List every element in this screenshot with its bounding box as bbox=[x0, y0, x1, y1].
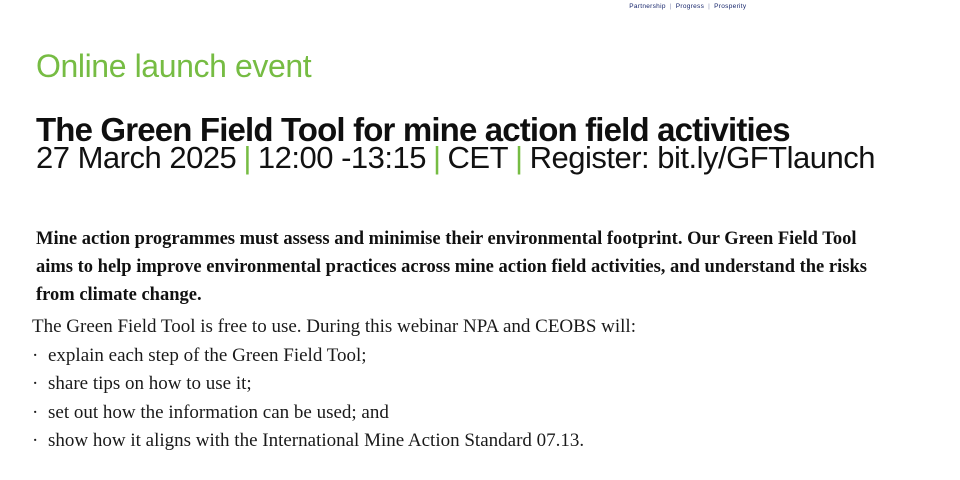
body-intro-paragraph: The Green Field Tool is free to use. Dur… bbox=[32, 313, 912, 342]
meta-separator-1: | bbox=[236, 138, 258, 178]
registration-link[interactable]: Register: bit.ly/GFTlaunch bbox=[530, 138, 875, 178]
webinar-agenda-list: ·explain each step of the Green Field To… bbox=[32, 342, 912, 456]
tagline-partnership: Partnership bbox=[629, 3, 666, 10]
bullet-dot-icon: · bbox=[32, 342, 38, 371]
tagline-progress: Progress bbox=[676, 3, 704, 10]
list-item: ·explain each step of the Green Field To… bbox=[32, 342, 912, 371]
event-date: 27 March 2025 bbox=[36, 138, 236, 178]
list-item: ·show how it aligns with the Internation… bbox=[32, 427, 912, 456]
norwegian-peoples-aid-logo: Peoples Aid bbox=[811, 0, 952, 2]
bullet-dot-icon: · bbox=[32, 427, 38, 456]
event-time: 12:00 -13:15 bbox=[258, 138, 426, 178]
meta-separator-3: | bbox=[508, 138, 530, 178]
list-item: ·share tips on how to use it; bbox=[32, 370, 912, 399]
lede-paragraph: Mine action programmes must assess and m… bbox=[36, 225, 886, 309]
list-item-label: share tips on how to use it; bbox=[48, 373, 252, 394]
bullet-dot-icon: · bbox=[32, 399, 38, 428]
event-eyebrow: Online launch event bbox=[36, 47, 311, 85]
list-item-label: show how it aligns with the Internationa… bbox=[48, 430, 584, 451]
list-item-label: explain each step of the Green Field Too… bbox=[48, 345, 367, 366]
partner-logo-strip: Development Partnership|Progress|Prosper… bbox=[0, 0, 960, 24]
uk-international-development-logo: Development Partnership|Progress|Prosper… bbox=[627, 0, 777, 10]
tagline-separator-1: | bbox=[670, 3, 672, 10]
npa-logo-wordmark: Peoples Aid bbox=[844, 0, 952, 2]
event-timezone: CET bbox=[448, 138, 509, 178]
tagline-separator-2: | bbox=[708, 3, 710, 10]
meta-separator-2: | bbox=[426, 138, 448, 178]
body-copy: The Green Field Tool is free to use. Dur… bbox=[32, 313, 912, 456]
list-item-label: set out how the information can be used;… bbox=[48, 402, 389, 423]
tagline-prosperity: Prosperity bbox=[714, 3, 746, 10]
bullet-dot-icon: · bbox=[32, 370, 38, 399]
list-item: ·set out how the information can be used… bbox=[32, 399, 912, 428]
event-meta-line: 27 March 2025 | 12:00 -13:15 | CET | Reg… bbox=[36, 138, 875, 178]
uk-logo-tagline: Partnership|Progress|Prosperity bbox=[629, 3, 746, 10]
